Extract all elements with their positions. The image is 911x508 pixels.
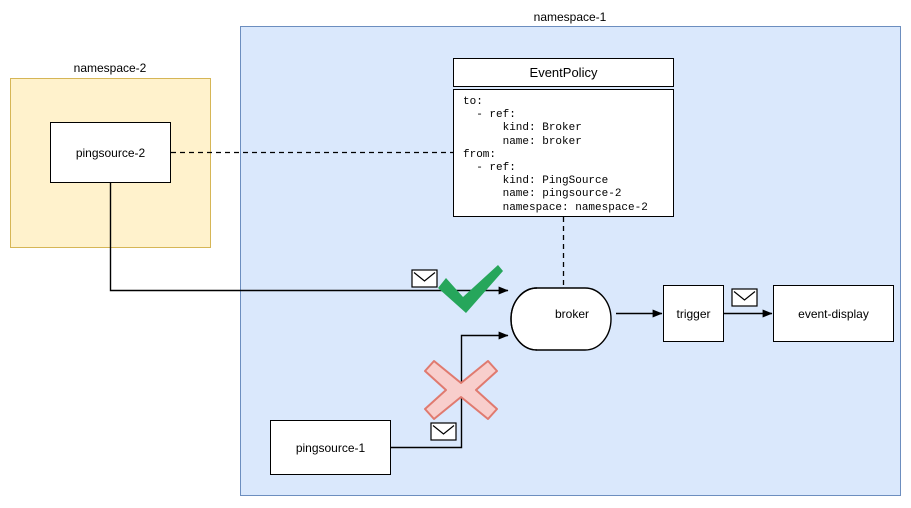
event-policy-header[interactable]: EventPolicy bbox=[453, 58, 674, 87]
node-event-display[interactable]: event-display bbox=[773, 285, 894, 342]
node-pingsource-1[interactable]: pingsource-1 bbox=[270, 420, 391, 475]
node-trigger[interactable]: trigger bbox=[663, 285, 724, 342]
node-trigger-label: trigger bbox=[676, 307, 710, 321]
namespace-2-label: namespace-2 bbox=[10, 61, 210, 75]
event-policy-title: EventPolicy bbox=[530, 65, 598, 80]
node-pingsource-2-label: pingsource-2 bbox=[76, 146, 145, 160]
node-pingsource-1-label: pingsource-1 bbox=[296, 441, 365, 455]
diagram-canvas: namespace-1 namespace-2 bbox=[0, 0, 911, 508]
node-event-display-label: event-display bbox=[798, 307, 869, 321]
namespace-1-label: namespace-1 bbox=[470, 10, 670, 24]
node-broker-label: broker bbox=[537, 307, 607, 321]
node-pingsource-2[interactable]: pingsource-2 bbox=[50, 122, 171, 183]
event-policy-body: to: - ref: kind: Broker name: broker fro… bbox=[453, 89, 674, 217]
